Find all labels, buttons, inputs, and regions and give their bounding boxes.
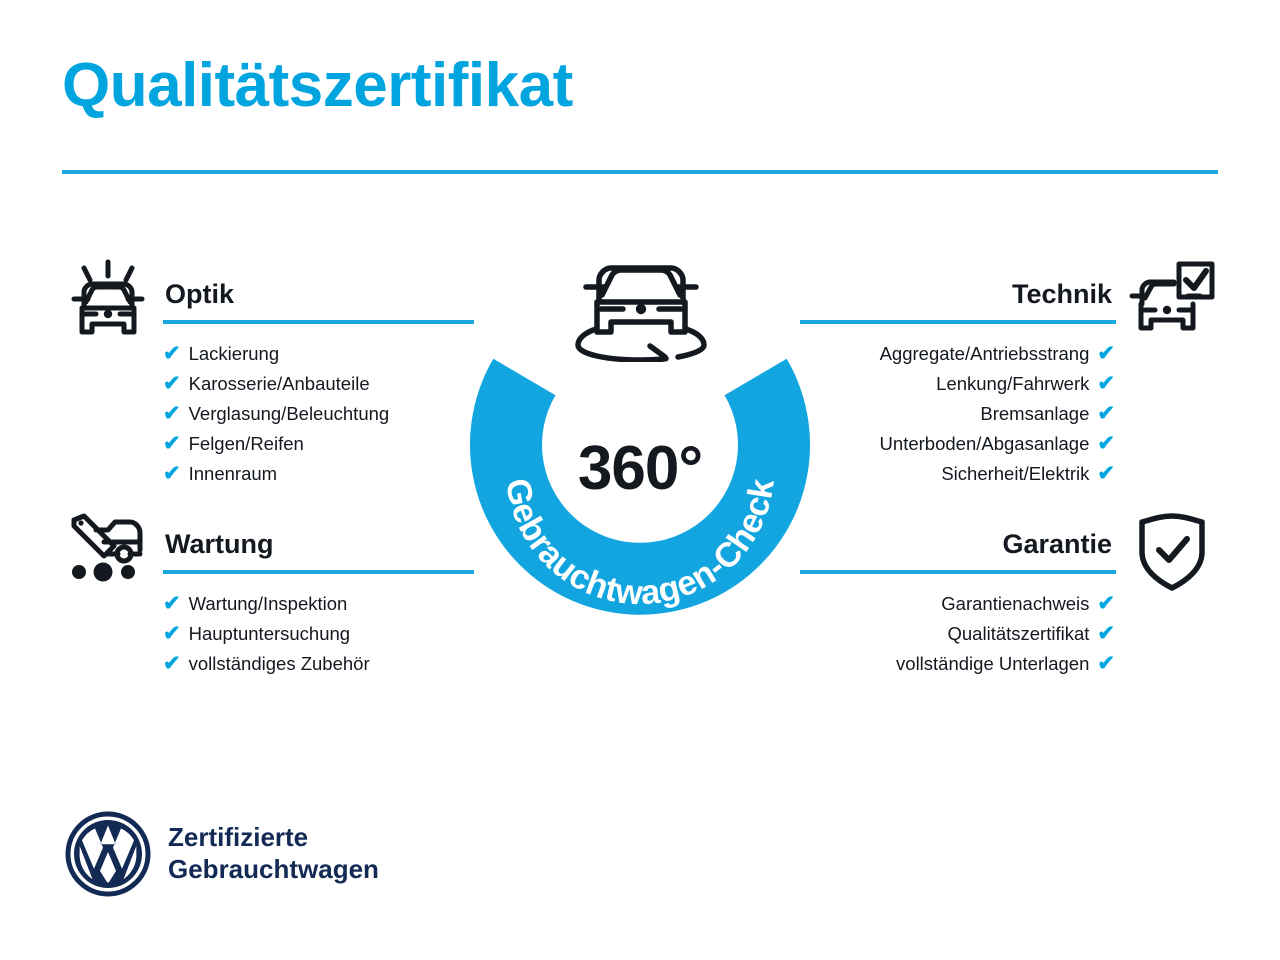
list-item: ✔Lackierung: [163, 343, 474, 373]
check-icon: ✔: [1097, 403, 1115, 424]
list-item-label: Unterboden/Abgasanlage: [880, 433, 1090, 455]
section-header: Wartung: [62, 508, 474, 582]
section-header: Garantie: [800, 508, 1218, 582]
list-item: ✔Hauptuntersuchung: [163, 623, 474, 653]
section-underline: [163, 320, 474, 324]
section-underline: [800, 570, 1116, 574]
check-icon: ✔: [163, 373, 181, 394]
check-icon: ✔: [163, 653, 181, 674]
badge-360-check: Gebrauchtwagen-Check 360°: [458, 248, 822, 632]
footer-text: Zertifizierte Gebrauchtwagen: [168, 822, 379, 885]
list-item: ✔Innenraum: [163, 463, 474, 493]
section-title: Technik: [1012, 279, 1112, 310]
list-item-label: Aggregate/Antriebsstrang: [880, 343, 1090, 365]
list-item-label: vollständiges Zubehör: [189, 653, 370, 675]
list-item: ✔Felgen/Reifen: [163, 433, 474, 463]
list-item-label: Hauptuntersuchung: [189, 623, 350, 645]
list-item-label: Sicherheit/Elektrik: [941, 463, 1089, 485]
car-service-tool-icon: [62, 508, 154, 594]
section-underline: [163, 570, 474, 574]
check-icon: ✔: [163, 343, 181, 364]
list-item: ✔vollständiges Zubehör: [163, 653, 474, 683]
page-title: Qualitätszertifikat: [62, 52, 573, 120]
list-item-label: Verglasung/Beleuchtung: [189, 403, 390, 425]
list-item-label: vollständige Unterlagen: [896, 653, 1089, 675]
list-item: ✔Wartung/Inspektion: [163, 593, 474, 623]
list-item-label: Qualitätszertifikat: [948, 623, 1090, 645]
list-item: Aggregate/Antriebsstrang✔: [800, 343, 1115, 373]
shield-check-icon: [1126, 508, 1218, 594]
header-divider: [62, 170, 1218, 174]
section-technik: Technik Aggregate/Antriebsstrang✔ Lenkun…: [800, 258, 1218, 493]
section-title: Wartung: [165, 529, 273, 560]
check-icon: ✔: [163, 463, 181, 484]
list-item: Unterboden/Abgasanlage✔: [800, 433, 1115, 463]
car-shine-icon: [62, 258, 154, 344]
section-title: Garantie: [1002, 529, 1112, 560]
car-rotation-icon: [566, 250, 716, 362]
checklist-optik: ✔Lackierung ✔Karosserie/Anbauteile ✔Verg…: [163, 343, 474, 493]
list-item: ✔Verglasung/Beleuchtung: [163, 403, 474, 433]
quality-certificate-page: Qualitätszertifikat: [0, 0, 1280, 960]
list-item-label: Wartung/Inspektion: [189, 593, 348, 615]
check-icon: ✔: [1097, 433, 1115, 454]
car-checkbox-icon: [1126, 258, 1218, 344]
list-item: Bremsanlage✔: [800, 403, 1115, 433]
check-icon: ✔: [1097, 653, 1115, 674]
check-icon: ✔: [163, 403, 181, 424]
check-icon: ✔: [1097, 593, 1115, 614]
list-item-label: Karosserie/Anbauteile: [189, 373, 370, 395]
list-item-label: Garantienachweis: [941, 593, 1089, 615]
check-icon: ✔: [1097, 463, 1115, 484]
section-header: Technik: [800, 258, 1218, 332]
list-item-label: Innenraum: [189, 463, 277, 485]
section-wartung: Wartung ✔Wartung/Inspektion ✔Hauptunters…: [62, 508, 474, 683]
check-icon: ✔: [163, 433, 181, 454]
section-header: Optik: [62, 258, 474, 332]
check-icon: ✔: [1097, 373, 1115, 394]
checklist-garantie: Garantienachweis✔ Qualitätszertifikat✔ v…: [800, 593, 1115, 683]
list-item-label: Felgen/Reifen: [189, 433, 304, 455]
list-item: Lenkung/Fahrwerk✔: [800, 373, 1115, 403]
list-item: vollständige Unterlagen✔: [800, 653, 1115, 683]
list-item-label: Bremsanlage: [980, 403, 1089, 425]
footer-brand: Zertifizierte Gebrauchtwagen: [62, 808, 379, 900]
section-underline: [800, 320, 1116, 324]
list-item: Sicherheit/Elektrik✔: [800, 463, 1115, 493]
list-item-label: Lackierung: [189, 343, 280, 365]
checklist-wartung: ✔Wartung/Inspektion ✔Hauptuntersuchung ✔…: [163, 593, 474, 683]
check-icon: ✔: [1097, 343, 1115, 364]
list-item: Garantienachweis✔: [800, 593, 1115, 623]
list-item: ✔Karosserie/Anbauteile: [163, 373, 474, 403]
checklist-technik: Aggregate/Antriebsstrang✔ Lenkung/Fahrwe…: [800, 343, 1115, 493]
check-icon: ✔: [163, 623, 181, 644]
section-title: Optik: [165, 279, 234, 310]
vw-logo: [62, 808, 154, 900]
list-item: Qualitätszertifikat✔: [800, 623, 1115, 653]
check-icon: ✔: [163, 593, 181, 614]
section-optik: Optik ✔Lackierung ✔Karosserie/Anbauteile…: [62, 258, 474, 493]
footer-line-2: Gebrauchtwagen: [168, 854, 379, 886]
check-icon: ✔: [1097, 623, 1115, 644]
section-garantie: Garantie Garantienachweis✔ Qualitätszert…: [800, 508, 1218, 683]
footer-line-1: Zertifizierte: [168, 822, 379, 854]
list-item-label: Lenkung/Fahrwerk: [936, 373, 1089, 395]
